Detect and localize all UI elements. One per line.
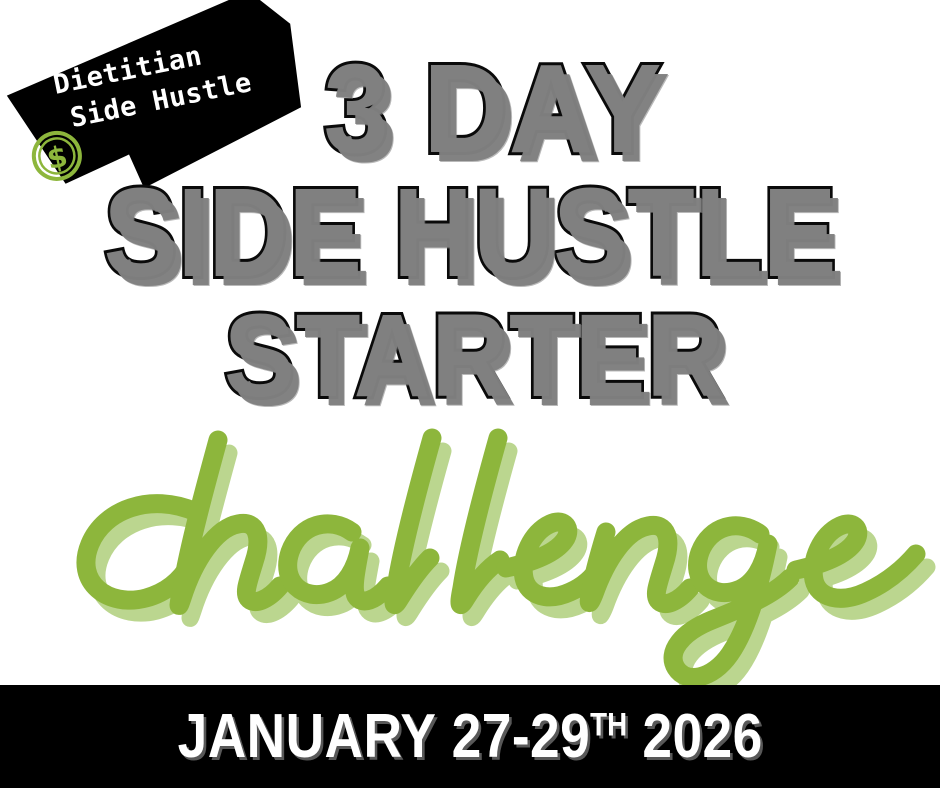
script-word-svg xyxy=(0,392,940,702)
date-year: 2026 xyxy=(642,702,762,771)
script-word-challenge xyxy=(0,392,940,702)
date-bar: JANUARY 27-29TH 2026 xyxy=(0,685,940,788)
headline-block: 3 DAY SIDE HUSTLE STARTER xyxy=(0,48,940,417)
headline-line-2: SIDE HUSTLE xyxy=(56,170,883,296)
date-month: JANUARY xyxy=(177,702,436,771)
promo-poster: $ Dietitian Side Hustle 3 DAY SIDE HUSTL… xyxy=(0,0,940,788)
date-text: JANUARY 27-29TH 2026 xyxy=(177,706,762,768)
headline-line-1: 3 DAY xyxy=(77,48,908,170)
date-ordinal: TH xyxy=(590,706,627,742)
date-days: 27-29 xyxy=(451,702,590,771)
